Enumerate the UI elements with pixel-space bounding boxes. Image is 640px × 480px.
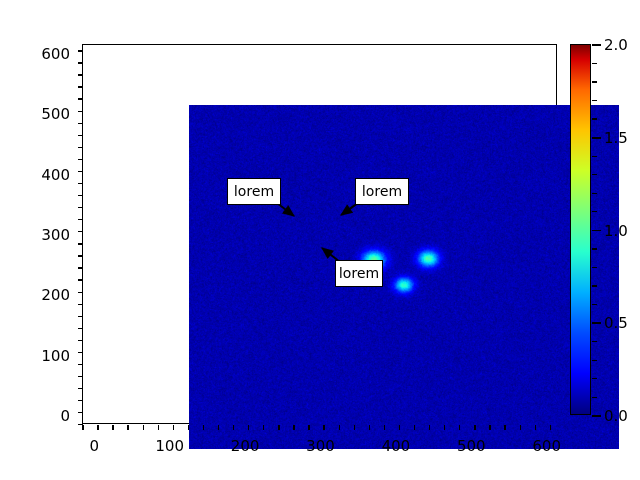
- colorbar-tick-major: [592, 137, 601, 139]
- x-tick-minor: [535, 425, 536, 430]
- y-tick-minor: [78, 267, 83, 268]
- x-tick-minor: [384, 425, 385, 430]
- x-tick-minor: [474, 425, 475, 430]
- y-tick-minor: [78, 340, 83, 341]
- colorbar-tick-minor: [592, 211, 597, 212]
- colorbar-tick-minor: [592, 267, 597, 268]
- x-tick-minor: [278, 425, 279, 430]
- y-tick-label: 600: [41, 45, 70, 63]
- y-tick-minor: [78, 159, 83, 160]
- heatmap-image: [189, 105, 619, 449]
- y-tick-label: 200: [41, 286, 70, 304]
- y-tick-minor: [78, 364, 83, 365]
- y-tick-minor: [78, 304, 83, 305]
- x-tick-label: 300: [306, 437, 335, 455]
- x-tick-minor: [339, 425, 340, 430]
- y-tick-label: 300: [41, 226, 70, 244]
- x-tick-minor: [112, 425, 113, 430]
- annotation-right: lorem: [355, 178, 409, 205]
- x-tick-minor: [97, 425, 98, 430]
- y-tick-minor: [78, 147, 83, 148]
- x-tick-label: 0: [90, 437, 100, 455]
- colorbar-tick-minor: [592, 341, 597, 342]
- x-tick-minor: [399, 425, 400, 430]
- y-tick-minor: [78, 62, 83, 63]
- y-tick-minor: [78, 292, 83, 293]
- y-tick-minor: [78, 98, 83, 99]
- x-tick-minor: [203, 425, 204, 430]
- colorbar-tick-minor: [592, 81, 597, 82]
- x-tick-minor: [354, 425, 355, 430]
- colorbar-tick-minor: [592, 360, 597, 361]
- y-tick-minor: [78, 50, 83, 51]
- y-tick-minor: [78, 207, 83, 208]
- x-tick-minor: [444, 425, 445, 430]
- y-tick-minor: [78, 400, 83, 401]
- y-tick-minor: [78, 183, 83, 184]
- x-tick-minor: [323, 425, 324, 430]
- colorbar-tick-label: 0.5: [604, 314, 628, 332]
- x-tick-minor: [308, 425, 309, 430]
- y-tick-minor: [78, 316, 83, 317]
- x-tick-minor: [173, 425, 174, 430]
- x-tick-minor: [489, 425, 490, 430]
- x-tick-minor: [520, 425, 521, 430]
- x-tick-minor: [82, 425, 83, 430]
- colorbar-tick-major: [592, 44, 601, 46]
- y-tick-minor: [78, 195, 83, 196]
- colorbar-tick-label: 0.0: [604, 407, 628, 425]
- y-tick-minor: [78, 412, 83, 413]
- colorbar-tick-label: 2.0: [604, 36, 628, 54]
- colorbar-tick-minor: [592, 397, 597, 398]
- colorbar-tick-minor: [592, 174, 597, 175]
- x-tick-minor: [143, 425, 144, 430]
- y-tick-label: 0: [60, 407, 70, 425]
- x-tick-minor: [158, 425, 159, 430]
- x-tick-minor: [293, 425, 294, 430]
- y-tick-minor: [78, 219, 83, 220]
- colorbar-tick-major: [592, 230, 601, 232]
- y-tick-minor: [78, 86, 83, 87]
- x-tick-minor: [504, 425, 505, 430]
- colorbar-tick-minor: [592, 304, 597, 305]
- x-tick-minor: [459, 425, 460, 430]
- y-tick-minor: [78, 255, 83, 256]
- colorbar-tick-minor: [592, 193, 597, 194]
- x-tick-label: 600: [532, 437, 561, 455]
- colorbar-tick-minor: [592, 100, 597, 101]
- annotation-bottom: lorem: [335, 260, 383, 287]
- x-tick-minor: [369, 425, 370, 430]
- y-tick-minor: [78, 328, 83, 329]
- colorbar: 0.00.51.01.52.0: [570, 44, 591, 415]
- y-tick-minor: [78, 135, 83, 136]
- annotation-left: lorem: [227, 178, 281, 205]
- y-tick-minor: [78, 231, 83, 232]
- x-tick-label: 500: [457, 437, 486, 455]
- colorbar-tick-major: [592, 415, 601, 417]
- colorbar-tick-minor: [592, 248, 597, 249]
- y-tick-label: 500: [41, 105, 70, 123]
- colorbar-tick-minor: [592, 63, 597, 64]
- colorbar-tick-minor: [592, 118, 597, 119]
- y-tick-label: 400: [41, 166, 70, 184]
- colorbar-tick-minor: [592, 156, 597, 157]
- x-tick-minor: [127, 425, 128, 430]
- x-tick-label: 100: [155, 437, 184, 455]
- x-tick-minor: [429, 425, 430, 430]
- colorbar-tick-major: [592, 322, 601, 324]
- y-tick-minor: [78, 243, 83, 244]
- x-tick-minor: [248, 425, 249, 430]
- x-tick-label: 200: [231, 437, 260, 455]
- y-tick-minor: [78, 111, 83, 112]
- x-tick-minor: [218, 425, 219, 430]
- colorbar-tick-label: 1.0: [604, 222, 628, 240]
- y-tick-minor: [78, 123, 83, 124]
- colorbar-tick-minor: [592, 285, 597, 286]
- y-tick-minor: [78, 279, 83, 280]
- heatmap-pixels: [189, 105, 619, 449]
- y-tick-minor: [78, 171, 83, 172]
- x-tick-minor: [263, 425, 264, 430]
- y-tick-minor: [78, 376, 83, 377]
- x-tick-minor: [550, 425, 551, 430]
- y-tick-minor: [78, 74, 83, 75]
- y-tick-label: 100: [41, 347, 70, 365]
- x-tick-label: 400: [382, 437, 411, 455]
- figure-canvas: 01002003004005006000100200300400500600 0…: [0, 0, 640, 480]
- y-tick-minor: [78, 352, 83, 353]
- colorbar-tick-label: 1.5: [604, 129, 628, 147]
- y-tick-minor: [78, 388, 83, 389]
- x-tick-minor: [188, 425, 189, 430]
- x-tick-minor: [233, 425, 234, 430]
- x-tick-minor: [414, 425, 415, 430]
- colorbar-tick-minor: [592, 378, 597, 379]
- main-axes: 01002003004005006000100200300400500600: [82, 44, 557, 424]
